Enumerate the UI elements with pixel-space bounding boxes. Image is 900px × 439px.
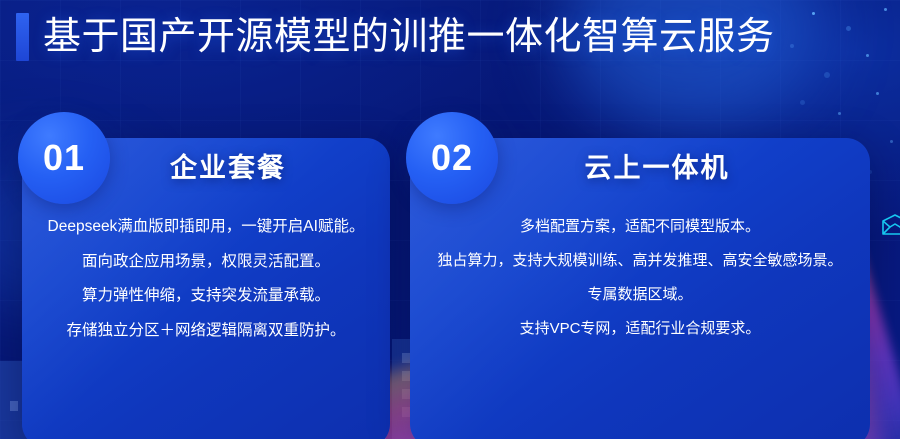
card-feature-line: 支持VPC专网，适配行业合规要求。 — [520, 312, 761, 346]
sparkle-particle — [890, 140, 893, 143]
card-number-badge: 01 — [18, 112, 110, 204]
title-accent-bar — [16, 13, 29, 61]
card-body: 多档配置方案，适配不同模型版本。 独占算力，支持大规模训练、高并发推理、高安全敏… — [410, 210, 870, 346]
sparkle-particle — [790, 44, 794, 48]
card-body: Deepseek满血版即插即用，一键开启AI赋能。 面向政企应用场景，权限灵活配… — [22, 210, 390, 348]
sparkle-particle — [846, 26, 851, 31]
sparkle-particle — [866, 54, 869, 57]
sparkle-particle — [812, 12, 815, 15]
sparkle-particle — [824, 72, 830, 78]
card-feature-line: 存储独立分区＋网络逻辑隔离双重防护。 — [66, 314, 345, 349]
page-header: 基于国产开源模型的训推一体化智算云服务 — [16, 13, 775, 61]
sparkle-particle — [884, 8, 887, 11]
envelope-icon — [880, 212, 900, 238]
sparkle-particle — [838, 112, 841, 115]
card-feature-line: Deepseek满血版即插即用，一键开启AI赋能。 — [48, 210, 365, 245]
plan-card-cloud-appliance[interactable]: 02 云上一体机 多档配置方案，适配不同模型版本。 独占算力，支持大规模训练、高… — [410, 138, 870, 439]
card-number-label: 02 — [431, 140, 473, 176]
card-number-badge: 02 — [406, 112, 498, 204]
page-title: 基于国产开源模型的训推一体化智算云服务 — [43, 18, 775, 56]
card-feature-line: 算力弹性伸缩，支持突发流量承载。 — [82, 279, 330, 314]
card-number-label: 01 — [43, 140, 85, 176]
card-feature-line: 面向政企应用场景，权限灵活配置。 — [82, 245, 330, 280]
sparkle-particle — [876, 92, 879, 95]
card-feature-line: 专属数据区域。 — [587, 278, 692, 312]
card-feature-line: 多档配置方案，适配不同模型版本。 — [520, 210, 760, 244]
plan-card-enterprise[interactable]: 01 企业套餐 Deepseek满血版即插即用，一键开启AI赋能。 面向政企应用… — [22, 138, 390, 439]
card-feature-line: 独占算力，支持大规模训练、高并发推理、高安全敏感场景。 — [437, 244, 842, 278]
sparkle-particle — [800, 100, 805, 105]
